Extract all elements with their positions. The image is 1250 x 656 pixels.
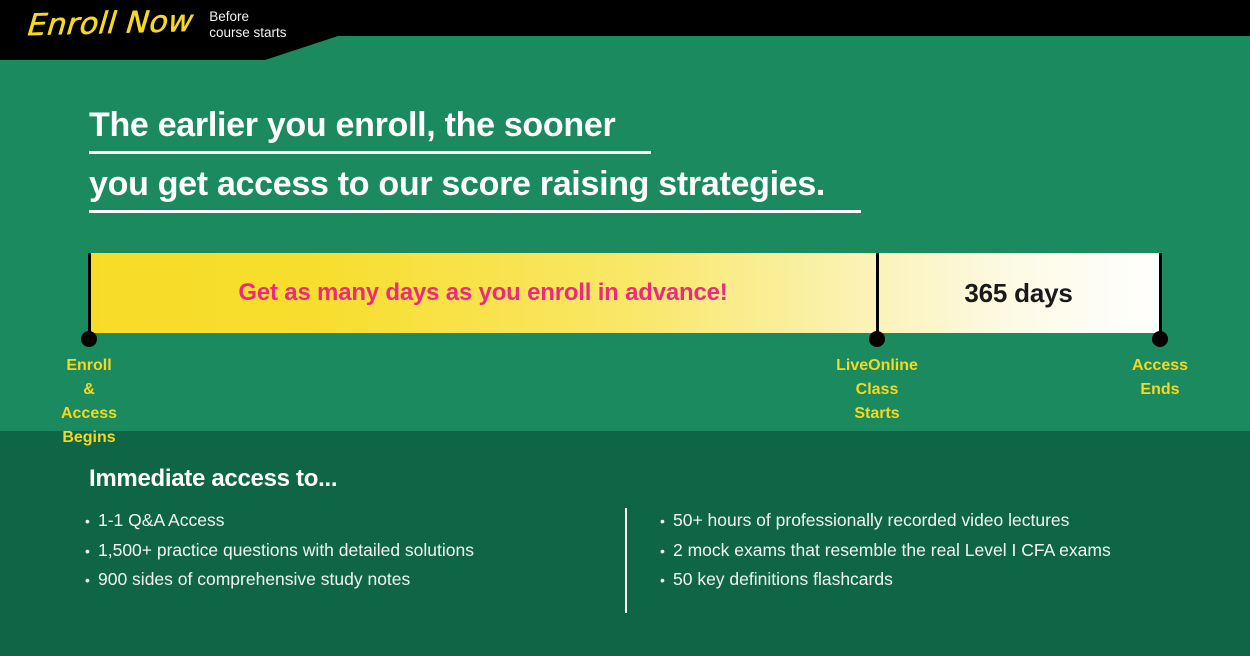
timeline-bar: Get as many days as you enroll in advanc… xyxy=(89,253,1160,333)
list-item: • 900 sides of comprehensive study notes xyxy=(85,565,474,595)
list-item-label: 900 sides of comprehensive study notes xyxy=(98,565,410,594)
marker-label-enroll: Enroll & Access Begins xyxy=(61,354,117,450)
headline-line-1: The earlier you enroll, the sooner xyxy=(89,104,861,146)
list-item-label: 50+ hours of professionally recorded vid… xyxy=(673,506,1069,535)
list-item: • 2 mock exams that resemble the real Le… xyxy=(660,536,1111,566)
list-item: • 1-1 Q&A Access xyxy=(85,506,474,536)
timeline-promo-text: Get as many days as you enroll in advanc… xyxy=(89,253,877,333)
bullet-icon: • xyxy=(85,566,98,595)
marker-dot-icon xyxy=(869,331,885,347)
benefits-list-right: • 50+ hours of professionally recorded v… xyxy=(660,506,1111,595)
list-item: • 50 key definitions flashcards xyxy=(660,565,1111,595)
marker-dot-icon xyxy=(1152,331,1168,347)
marker-stem xyxy=(1159,253,1162,335)
promo-banner-page: Enroll Now Before course starts The earl… xyxy=(0,0,1250,656)
bullet-icon: • xyxy=(660,537,673,566)
bullet-icon: • xyxy=(660,566,673,595)
column-divider xyxy=(625,508,627,613)
headline-underline-1 xyxy=(89,151,651,154)
timeline-duration-text: 365 days xyxy=(877,253,1160,333)
benefits-list-left: • 1-1 Q&A Access • 1,500+ practice quest… xyxy=(85,506,474,595)
bullet-icon: • xyxy=(660,507,673,536)
list-item: • 1,500+ practice questions with detaile… xyxy=(85,536,474,566)
brand-block: Enroll Now Before course starts xyxy=(28,2,286,46)
marker-dot-icon xyxy=(81,331,97,347)
benefits-title: Immediate access to... xyxy=(89,465,337,493)
marker-label-access-ends: Access Ends xyxy=(1132,354,1188,402)
marker-stem xyxy=(876,253,879,335)
list-item-label: 1,500+ practice questions with detailed … xyxy=(98,536,474,565)
marker-label-class-start: LiveOnline Class Starts xyxy=(836,354,918,426)
list-item-label: 50 key definitions flashcards xyxy=(673,565,893,594)
list-item-label: 1-1 Q&A Access xyxy=(98,506,224,535)
headline-underline-2 xyxy=(89,210,861,213)
headline-line-2: you get access to our score raising stra… xyxy=(89,163,861,205)
list-item: • 50+ hours of professionally recorded v… xyxy=(660,506,1111,536)
bullet-icon: • xyxy=(85,537,98,566)
marker-stem xyxy=(88,253,91,335)
bullet-icon: • xyxy=(85,507,98,536)
list-item-label: 2 mock exams that resemble the real Leve… xyxy=(673,536,1111,565)
enroll-now-logo: Enroll Now xyxy=(26,7,195,41)
headline-block: The earlier you enroll, the sooner you g… xyxy=(89,104,861,222)
banner-subtitle: Before course starts xyxy=(209,7,286,41)
